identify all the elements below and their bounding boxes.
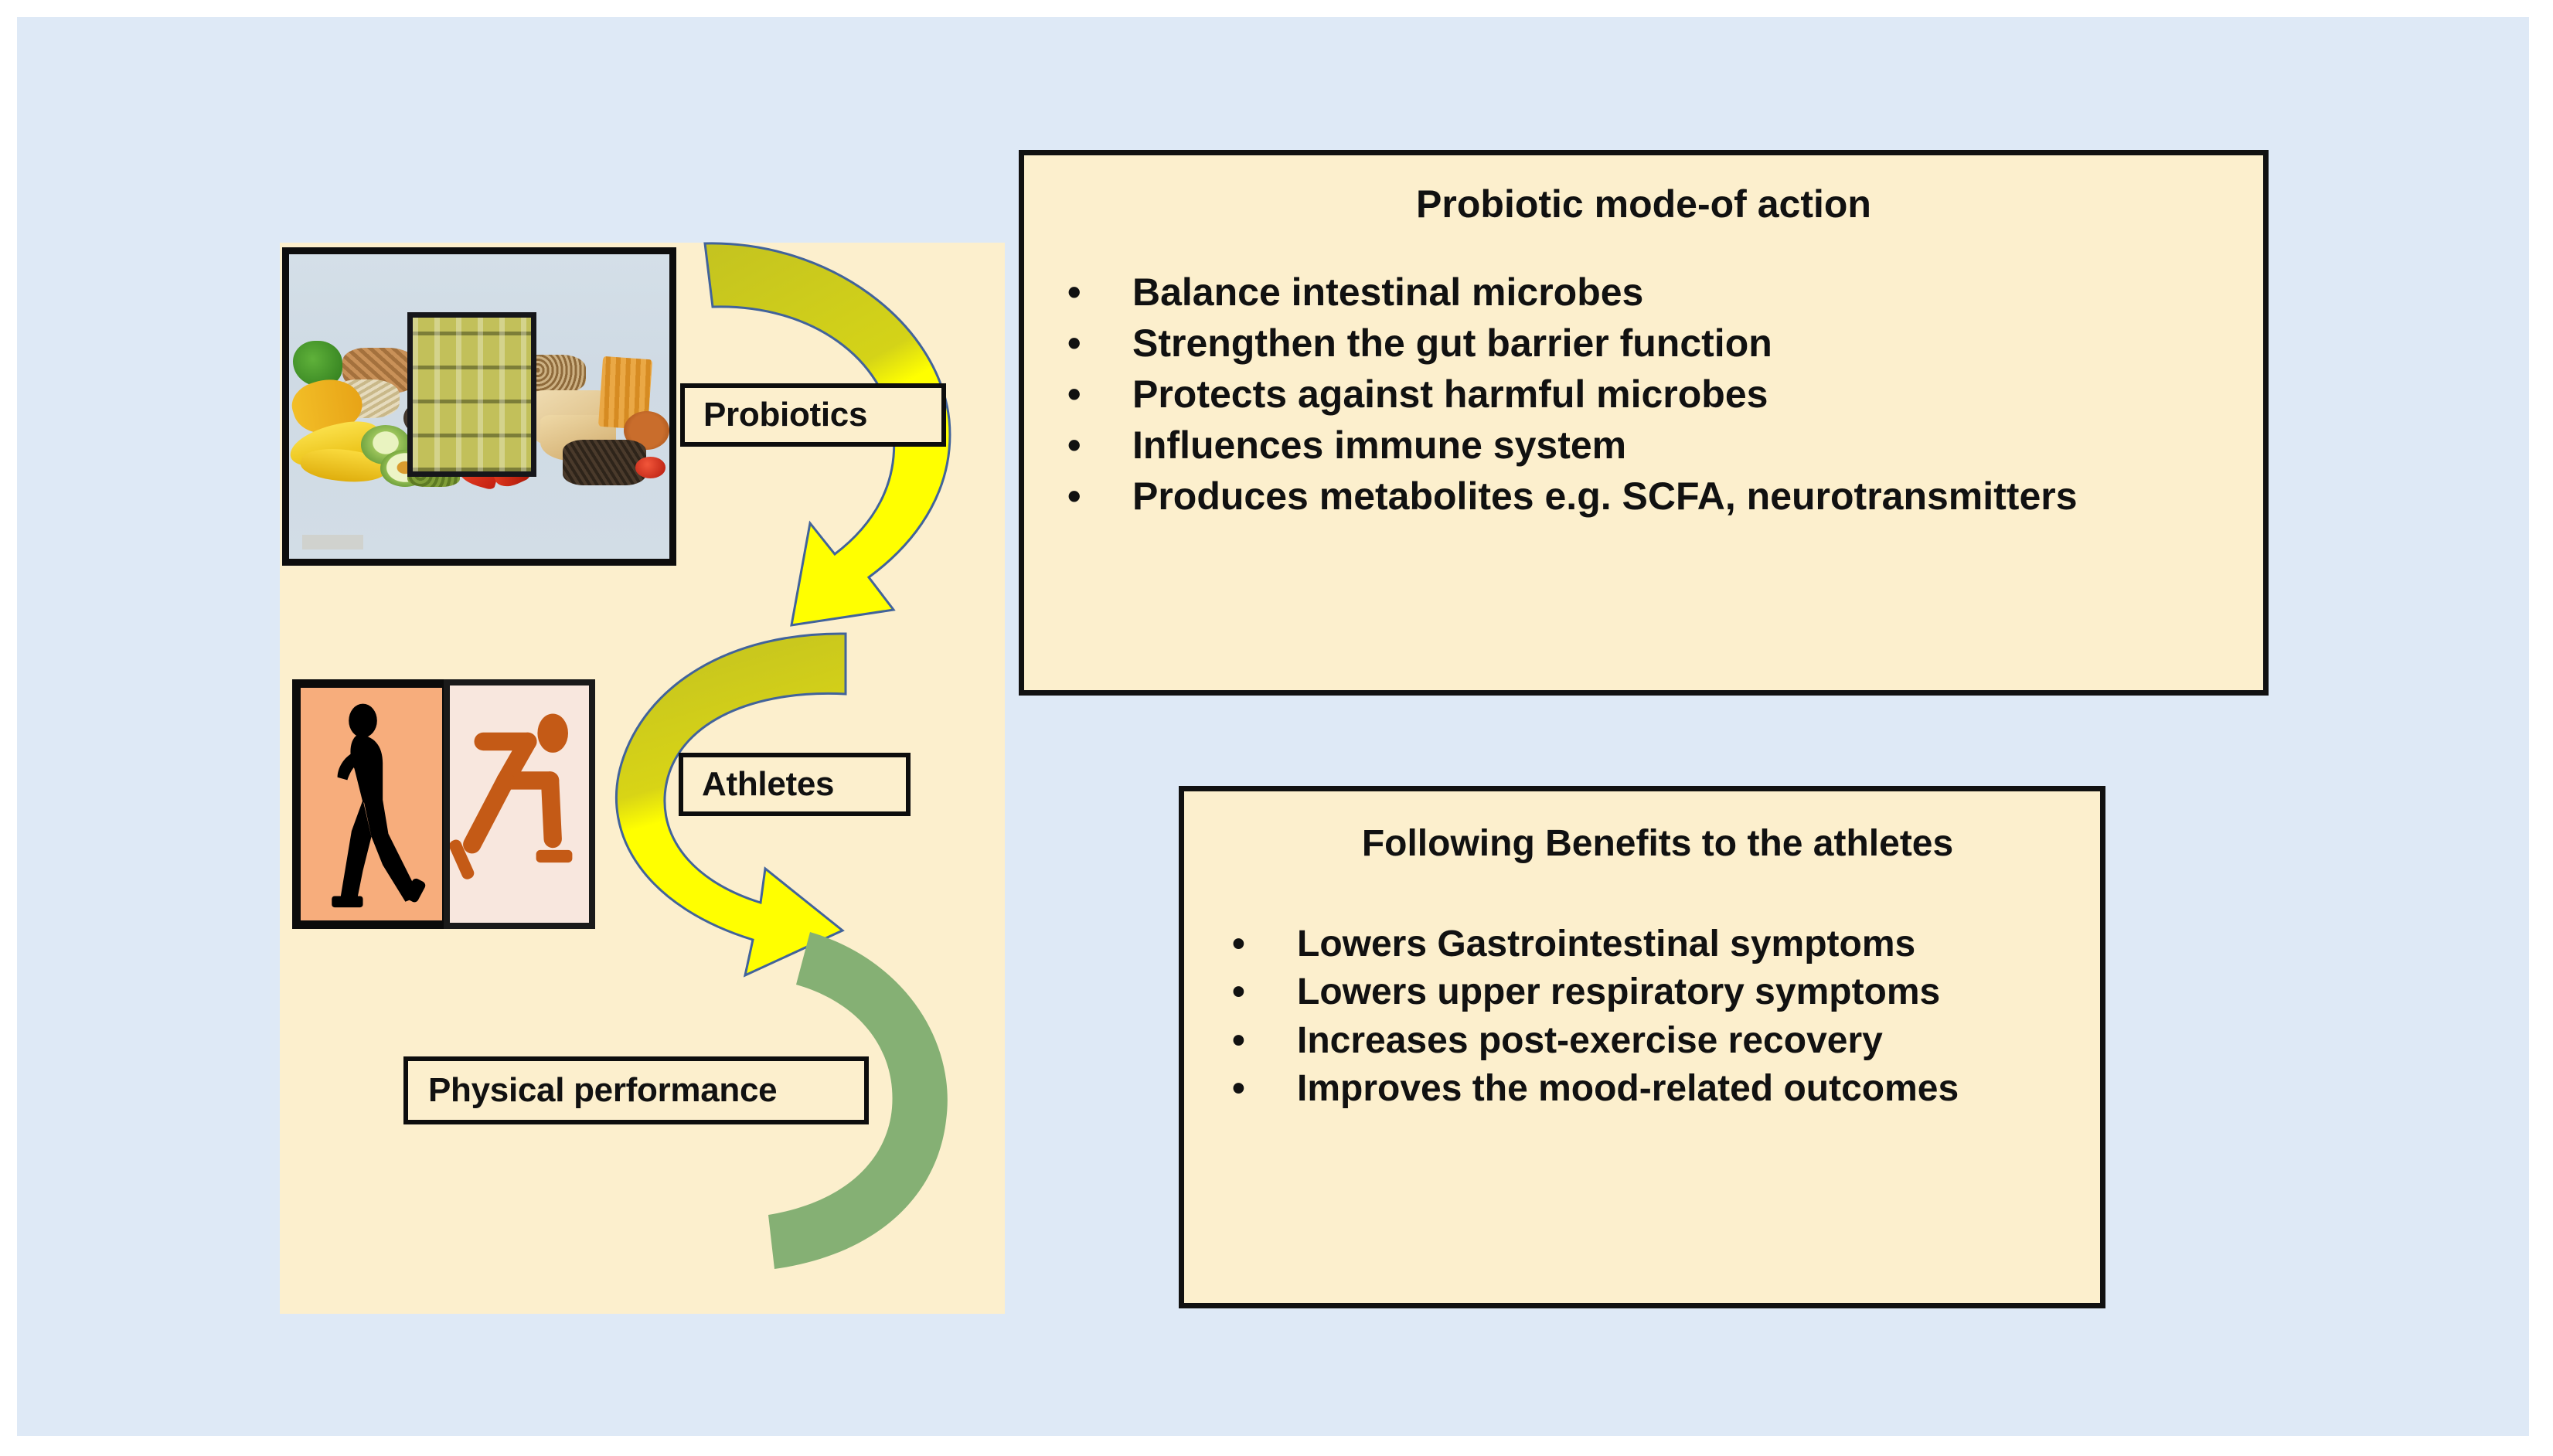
list-item-text: Improves the mood-related outcomes xyxy=(1297,1068,1959,1109)
list-item-text: Balance intestinal microbes xyxy=(1132,270,1643,314)
probiotic-mode-of-action-box: Probiotic mode-of action • Balance intes… xyxy=(1019,150,2269,696)
bullet-icon: • xyxy=(1232,968,1245,1016)
bullet-icon: • xyxy=(1067,318,1081,369)
athlete-icons-group xyxy=(292,679,595,929)
bullet-icon: • xyxy=(1067,369,1081,420)
label-physical-performance-text: Physical performance xyxy=(428,1071,777,1110)
probiotic-blister-pack-overlay xyxy=(407,312,536,477)
label-athletes-text: Athletes xyxy=(702,765,834,804)
photo-watermark xyxy=(302,535,363,550)
list-item: • Strengthen the gut barrier function xyxy=(1067,318,2263,369)
list-item: • Increases post-exercise recovery xyxy=(1232,1017,2100,1065)
label-probiotics-text: Probiotics xyxy=(703,396,867,434)
list-item-text: Lowers upper respiratory symptoms xyxy=(1297,971,1940,1012)
list-item: • Improves the mood-related outcomes xyxy=(1232,1065,2100,1113)
list-item: • Protects against harmful microbes xyxy=(1067,369,2263,420)
label-physical-performance[interactable]: Physical performance xyxy=(403,1056,869,1124)
running-man-silhouette-icon xyxy=(301,688,442,920)
bullet-icon: • xyxy=(1232,920,1245,968)
list-item: • Influences immune system xyxy=(1067,420,2263,471)
list-item: • Produces metabolites e.g. SCFA, neurot… xyxy=(1067,471,2263,522)
label-athletes[interactable]: Athletes xyxy=(679,753,911,816)
bullet-icon: • xyxy=(1232,1065,1245,1113)
list-item-text: Strengthen the gut barrier function xyxy=(1132,321,1772,365)
list-item-text: Produces metabolites e.g. SCFA, neurotra… xyxy=(1132,475,2078,518)
running-man-silhouette-panel xyxy=(292,679,451,929)
box-action-title: Probiotic mode-of action xyxy=(1024,182,2263,226)
bullet-icon: • xyxy=(1067,420,1081,471)
list-item: • Lowers Gastrointestinal symptoms xyxy=(1232,920,2100,968)
tomato-item xyxy=(635,457,665,478)
bullet-icon: • xyxy=(1067,471,1081,522)
running-stick-figure-panel xyxy=(444,679,595,929)
list-item: • Balance intestinal microbes xyxy=(1067,267,2263,318)
diagram-canvas: Probiotics Athletes Physical performance… xyxy=(17,17,2529,1436)
list-item: • Lowers upper respiratory symptoms xyxy=(1232,968,2100,1016)
benefits-to-athletes-box: Following Benefits to the athletes • Low… xyxy=(1179,786,2105,1308)
list-item-text: Influences immune system xyxy=(1132,424,1626,467)
running-stick-figure-icon xyxy=(450,685,589,923)
healthy-food-photo xyxy=(282,247,676,566)
box-action-bullet-list: • Balance intestinal microbes • Strength… xyxy=(1024,267,2263,522)
list-item-text: Lowers Gastrointestinal symptoms xyxy=(1297,924,1915,964)
bullet-icon: • xyxy=(1067,267,1081,318)
box-benefits-title: Following Benefits to the athletes xyxy=(1184,822,2100,865)
bullet-icon: • xyxy=(1232,1017,1245,1065)
box-benefits-bullet-list: • Lowers Gastrointestinal symptoms • Low… xyxy=(1184,920,2100,1114)
list-item-text: Protects against harmful microbes xyxy=(1132,373,1768,416)
dark-seeds-item xyxy=(563,440,646,485)
list-item-text: Increases post-exercise recovery xyxy=(1297,1020,1883,1061)
label-probiotics[interactable]: Probiotics xyxy=(680,383,946,447)
